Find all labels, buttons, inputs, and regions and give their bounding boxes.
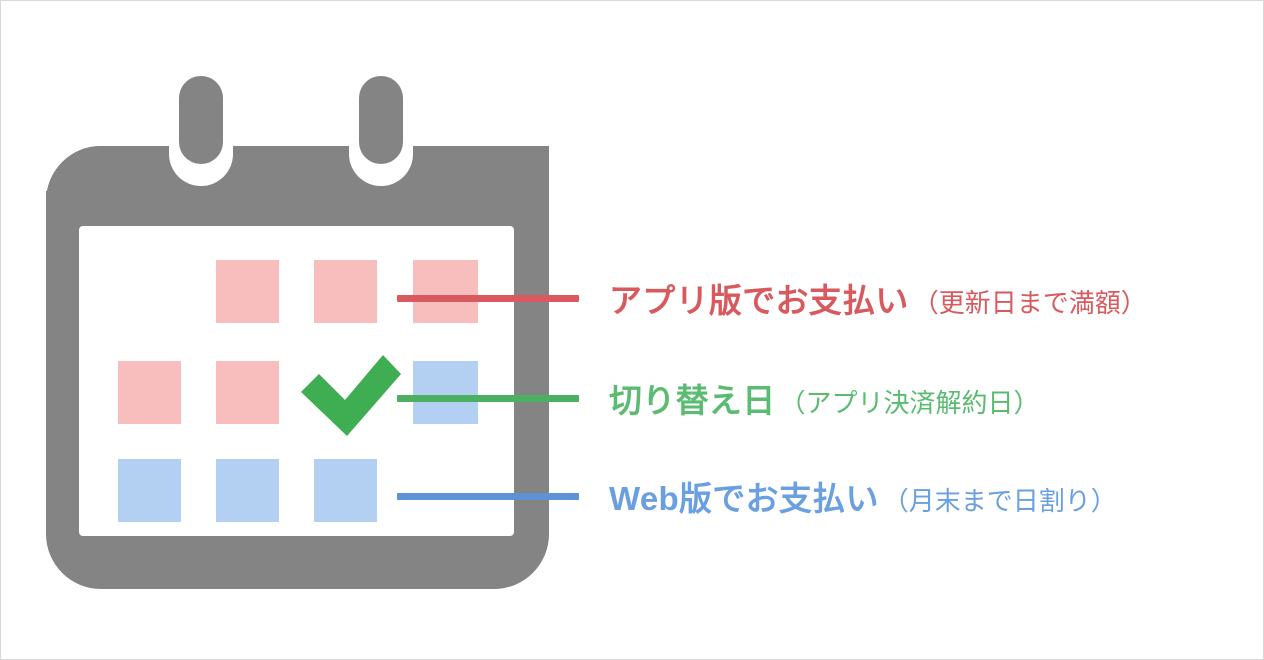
legend-row-app-payment: アプリ版でお支払い （更新日まで満額） <box>397 274 1147 322</box>
legend-main-text: 切り替え日 <box>609 374 776 422</box>
legend-sub-text: （月末まで日割り） <box>883 481 1117 518</box>
calendar-icon <box>1 1 581 660</box>
legend-row-web-payment: Web版でお支払い （月末まで日割り） <box>397 472 1117 520</box>
legend-connector-line-blue <box>397 493 579 500</box>
calendar-cell-app <box>216 260 279 323</box>
legend-sub-text: （アプリ決済解約日） <box>780 383 1040 420</box>
legend-connector-line-red <box>397 295 579 302</box>
binder-ring-left-icon <box>179 76 223 164</box>
legend-label-web-payment: Web版でお支払い （月末まで日割り） <box>609 472 1117 520</box>
binder-ring-right-icon <box>359 76 403 164</box>
calendar-cell-app <box>216 361 279 424</box>
calendar-cell-web <box>216 459 279 522</box>
diagram-canvas: アプリ版でお支払い （更新日まで満額） 切り替え日 （アプリ決済解約日） Web… <box>0 0 1264 660</box>
legend-connector-line-green <box>397 395 579 402</box>
legend-row-switch-day: 切り替え日 （アプリ決済解約日） <box>397 374 1040 422</box>
calendar-svg <box>1 1 581 660</box>
calendar-cell-app <box>314 260 377 323</box>
calendar-cell-app <box>118 361 181 424</box>
legend-main-text: Web版でお支払い <box>609 472 879 520</box>
legend-label-switch-day: 切り替え日 （アプリ決済解約日） <box>609 374 1040 422</box>
calendar-cell-web <box>314 459 377 522</box>
legend-label-app-payment: アプリ版でお支払い （更新日まで満額） <box>609 274 1147 322</box>
legend-sub-text: （更新日まで満額） <box>913 283 1147 320</box>
calendar-cell-web <box>118 459 181 522</box>
legend-main-text: アプリ版でお支払い <box>609 274 909 322</box>
